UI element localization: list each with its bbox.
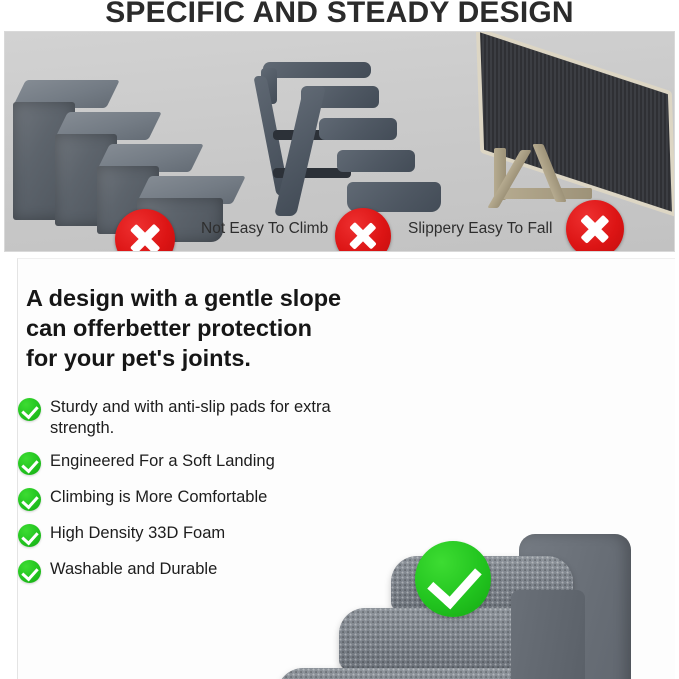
comparison-item-plastic-stairs (245, 32, 460, 252)
plastic-top-platform (263, 62, 371, 78)
green-check-icon (415, 541, 491, 617)
red-x-icon (566, 200, 624, 252)
product-side-panel (511, 590, 585, 679)
page-title: SPECIFIC AND STEADY DESIGN (0, 0, 679, 29)
infographic-page: SPECIFIC AND STEADY DESIGN (0, 0, 679, 679)
comparison-caption-plastic: Slippery Easy To Fall (408, 220, 552, 238)
benefit-item: Climbing is More Comfortable (18, 487, 348, 511)
benefit-text: Washable and Durable (50, 559, 217, 580)
green-check-icon (18, 524, 41, 547)
comparison-caption-foam: Not Easy To Climb (201, 220, 328, 238)
green-check-icon (18, 452, 41, 475)
feature-headline: A design with a gentle slope can offerbe… (26, 283, 356, 373)
plastic-step-2 (337, 150, 415, 172)
comparison-item-wooden-ramp (460, 32, 675, 252)
plastic-side-rail (274, 86, 326, 216)
benefit-item: Engineered For a Soft Landing (18, 451, 348, 475)
benefit-item: High Density 33D Foam (18, 523, 348, 547)
comparison-item-foam-stairs (5, 32, 245, 252)
benefit-text: Engineered For a Soft Landing (50, 451, 275, 472)
plastic-step-3 (319, 118, 397, 140)
red-x-icon (335, 208, 391, 252)
ramp-foot-bar (498, 188, 592, 199)
green-check-icon (18, 488, 41, 511)
headline-line-3: for your pet's joints. (26, 343, 356, 373)
benefit-text: High Density 33D Foam (50, 523, 225, 544)
benefit-text: Climbing is More Comfortable (50, 487, 267, 508)
headline-line-2: can offerbetter protection (26, 313, 356, 343)
feature-panel: A design with a gentle slope can offerbe… (17, 258, 675, 679)
headline-line-1: A design with a gentle slope (26, 283, 356, 313)
comparison-panel: Not Easy To Climb Slippery Easy To Fall (4, 31, 675, 252)
benefit-item: Washable and Durable (18, 559, 348, 583)
green-check-icon (18, 560, 41, 583)
benefit-list: Sturdy and with anti-slip pads for extra… (18, 397, 348, 595)
green-check-icon (18, 398, 41, 421)
benefit-text: Sturdy and with anti-slip pads for extra… (50, 397, 348, 439)
benefit-item: Sturdy and with anti-slip pads for extra… (18, 397, 348, 439)
